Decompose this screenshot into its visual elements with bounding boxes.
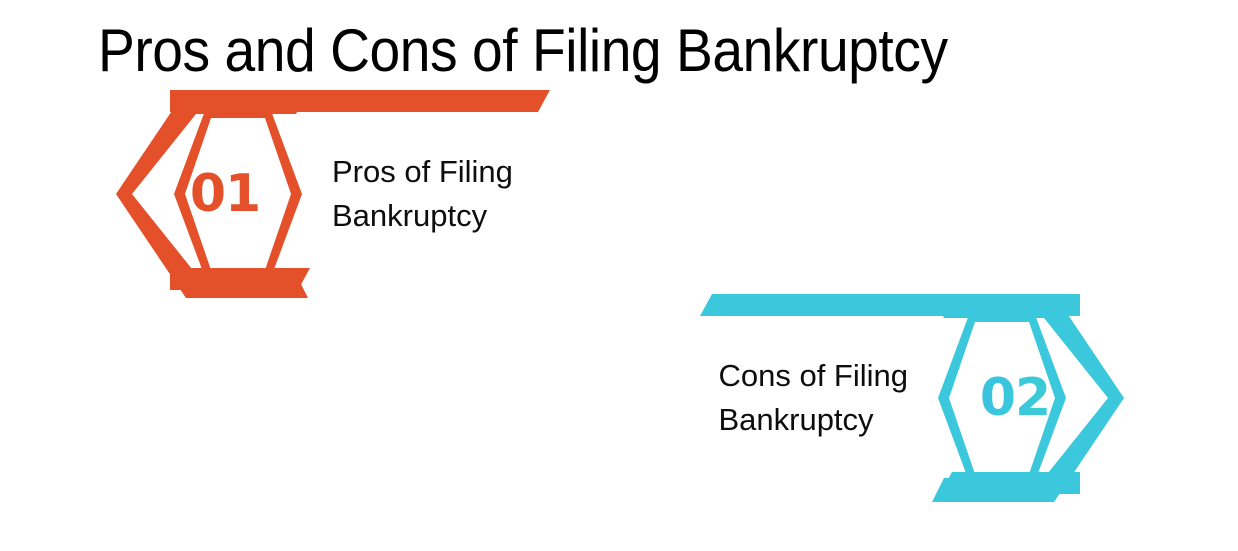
badge-label: Pros of Filing Bankruptcy [332,150,513,238]
page-title: Pros and Cons of Filing Bankruptcy [98,14,1073,88]
accent-bar-top-01 [170,90,550,112]
slide-canvas: Pros and Cons of Filing Bankruptcy 01 Pr… [0,0,1238,551]
accent-bar-top-02 [700,294,1080,316]
badge-label: Cons of Filing Bankruptcy [718,354,908,442]
accent-bar-bottom-02 [940,472,1080,494]
accent-bar-bottom-01 [170,268,310,290]
